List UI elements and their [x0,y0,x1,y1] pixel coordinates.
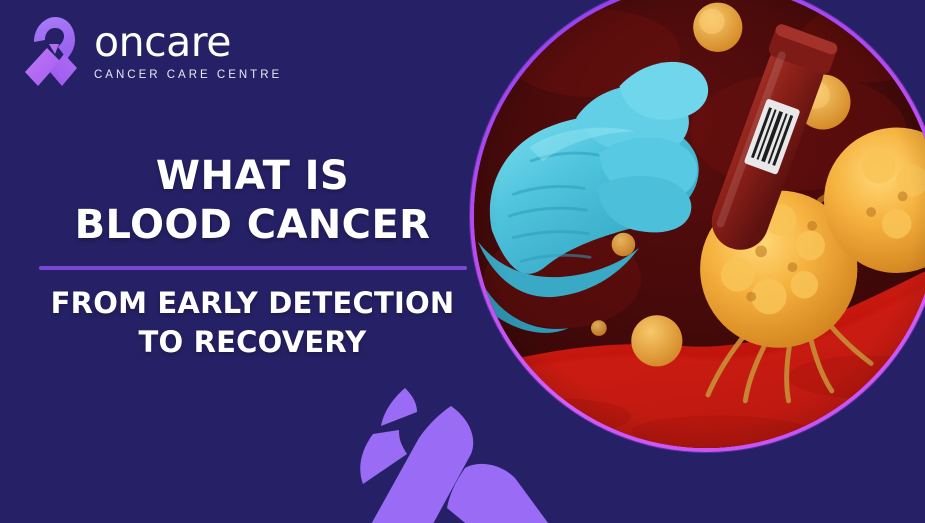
hero-image [474,0,925,448]
logo-tagline: CANCER CARE CENTRE [94,69,282,81]
subhead-line-1: FROM EARLY DETECTION [14,284,491,323]
headline-line-1: WHAT IS [16,152,489,201]
subhead-line-2: TO RECOVERY [14,323,491,362]
title-divider [39,266,467,270]
logo-wordmark: oncare [94,23,282,62]
hero-image-ring [470,0,925,452]
blood-cancer-banner: oncare CANCER CARE CENTRE WHAT IS BLOOD … [0,0,925,523]
page-subtitle: FROM EARLY DETECTION TO RECOVERY [0,284,505,363]
page-title: WHAT IS BLOOD CANCER [0,152,505,250]
brand-logo[interactable]: oncare CANCER CARE CENTRE [22,14,282,88]
awareness-ribbon-icon [22,14,84,88]
hero-illustration [474,0,925,448]
headline-block: WHAT IS BLOOD CANCER FROM EARLY DETECTIO… [0,152,505,362]
headline-line-2: BLOOD CANCER [16,201,489,250]
